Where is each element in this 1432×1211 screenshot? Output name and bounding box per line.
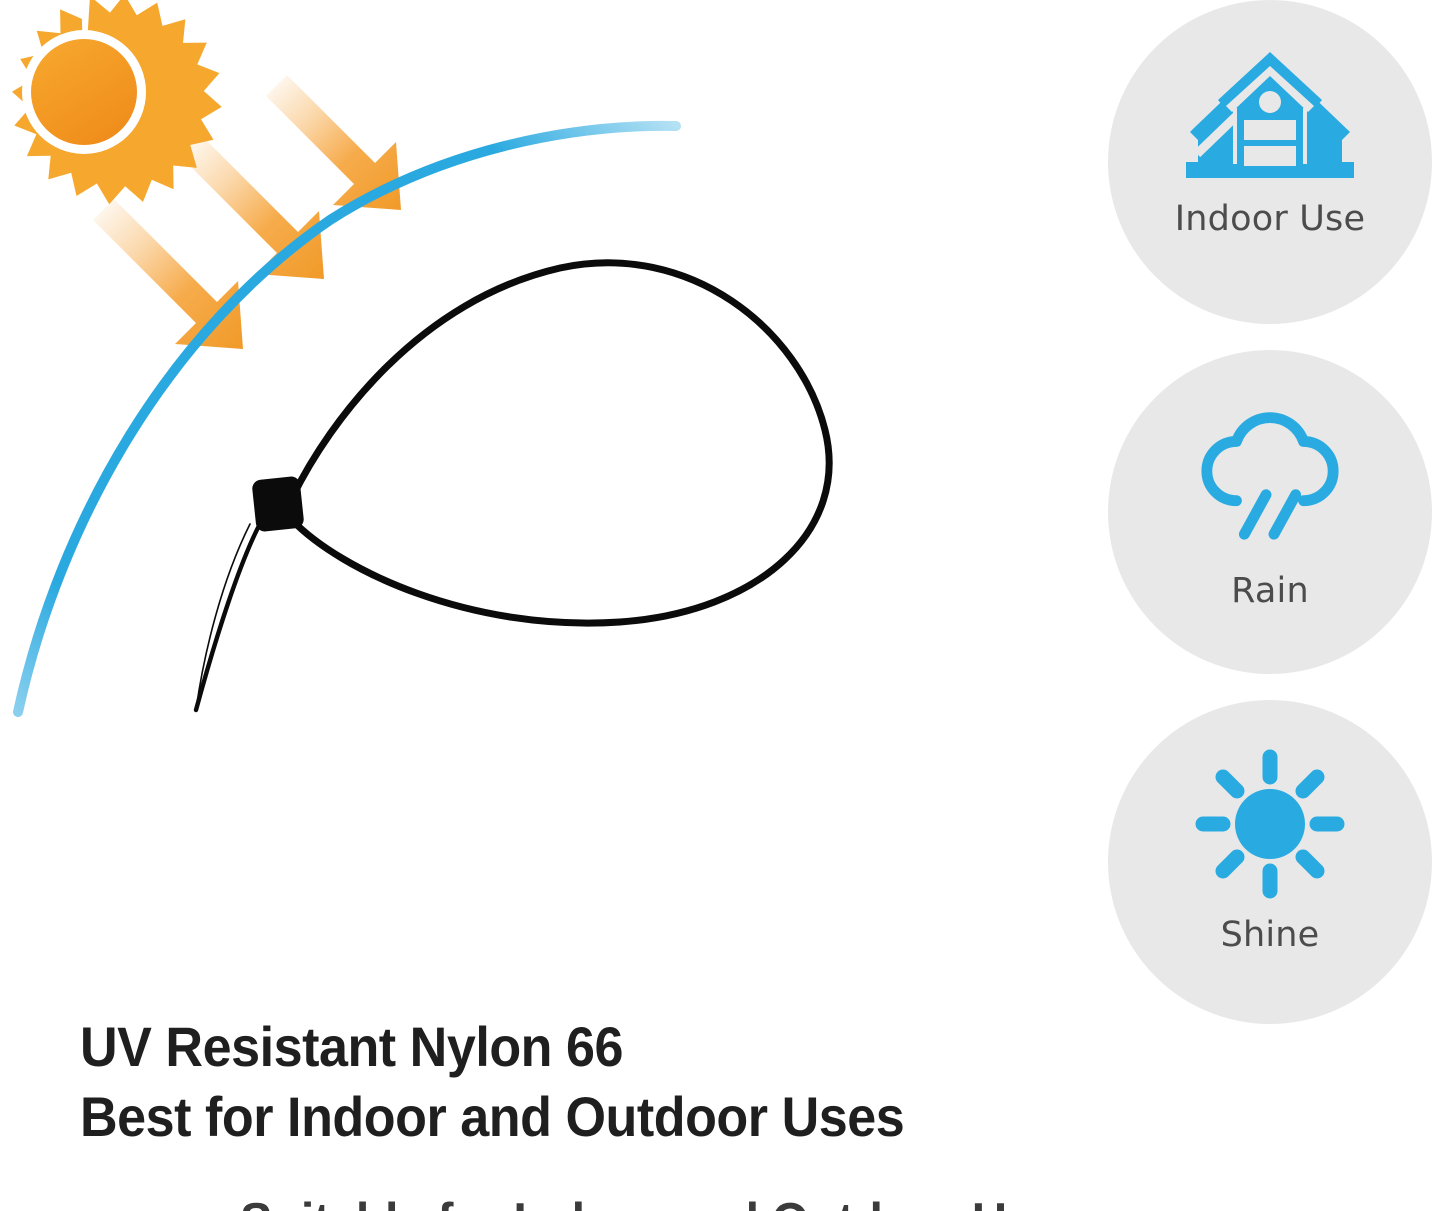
- badge-indoor-use[interactable]: Indoor Use: [1108, 0, 1432, 324]
- feature-badge-list: Indoor Use Rain: [1108, 0, 1432, 1020]
- badge-label: Indoor Use: [1175, 200, 1365, 239]
- house-icon: [1180, 42, 1360, 192]
- headline-line-3-clipped: Suitable for Indoor and Outdoor Uses: [240, 1190, 1100, 1211]
- rain-cloud-icon: [1180, 402, 1360, 550]
- badge-shine[interactable]: Shine: [1108, 700, 1432, 1024]
- badge-rain[interactable]: Rain: [1108, 350, 1432, 674]
- headline-block: UV Resistant Nylon 66 Best for Indoor an…: [80, 1012, 1080, 1152]
- sun-icon: [12, 0, 222, 204]
- headline-line-2: Best for Indoor and Outdoor Uses: [80, 1082, 1010, 1152]
- product-feature-infographic: Indoor Use Rain: [0, 0, 1432, 1211]
- headline-line-3: Suitable for Indoor and Outdoor Uses: [240, 1190, 1040, 1211]
- badge-label: Rain: [1231, 572, 1309, 611]
- uv-resistance-illustration: [0, 0, 1060, 1000]
- headline-line-1: UV Resistant Nylon 66: [80, 1012, 1010, 1082]
- sun-shine-icon: [1180, 748, 1360, 900]
- cable-tie: [196, 263, 829, 710]
- badge-label: Shine: [1221, 916, 1320, 955]
